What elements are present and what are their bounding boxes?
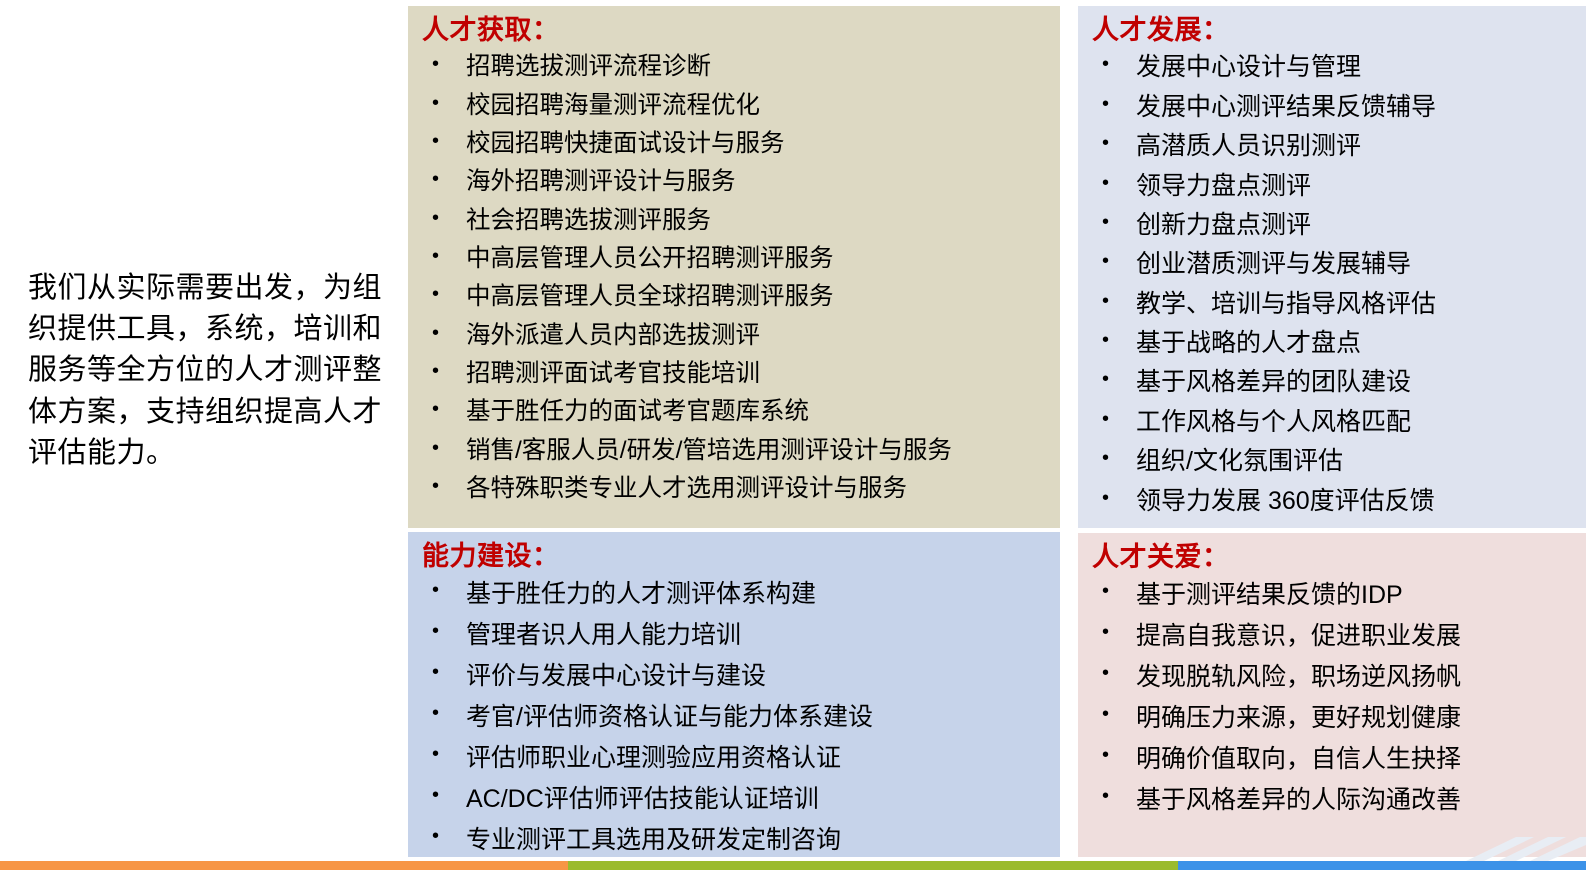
list-item-label: 评估师职业心理测验应用资格认证 [466,738,1050,779]
list-item: • 基于风格差异的团队建设 [1092,363,1576,402]
list-item-label: 创业潜质测评与发展辅导 [1136,245,1576,284]
list-item: • 教学、培训与指导风格评估 [1092,285,1576,324]
list-item-label: 社会招聘选拔测评服务 [466,202,1050,240]
list-item: • 基于战略的人才盘点 [1092,324,1576,363]
bullet-icon: • [422,48,466,80]
list-item: • 基于胜任力的人才测评体系构建 [422,574,1050,615]
bullet-icon: • [422,355,466,387]
list-item-label: 基于胜任力的面试考官题库系统 [466,393,1050,431]
bullet-icon: • [1092,167,1136,199]
intro-paragraph: 我们从实际需要出发，为组织提供工具，系统，培训和服务等全方位的人才测评整体方案，… [28,268,388,474]
bullet-icon: • [1092,88,1136,120]
list-item-label: 中高层管理人员全球招聘测评服务 [466,278,1050,316]
list-item: • 组织/文化氛围评估 [1092,442,1576,481]
list-item-label: 专业测评工具选用及研发定制咨询 [466,820,1050,857]
list-item: • 中高层管理人员全球招聘测评服务 [422,278,1050,316]
bullet-icon: • [1092,245,1136,277]
bullet-icon: • [1092,127,1136,159]
bullet-icon: • [422,615,466,647]
footer-color-strip [0,861,1586,870]
list-item-label: 发展中心设计与管理 [1136,48,1576,87]
list-item: • 招聘选拔测评流程诊断 [422,48,1050,86]
list-item: • 招聘测评面试考官技能培训 [422,355,1050,393]
item-list-talent-acquisition: • 招聘选拔测评流程诊断 • 校园招聘海量测评流程优化 • 校园招聘快捷面试设计… [422,48,1050,508]
list-item-label: 高潜质人员识别测评 [1136,127,1576,166]
list-item: • 基于胜任力的面试考官题库系统 [422,393,1050,431]
list-item: • 领导力发展 360度评估反馈 [1092,482,1576,521]
list-item-label: 明确压力来源，更好规划健康 [1136,698,1576,739]
bullet-icon: • [422,779,466,811]
list-item-label: 领导力盘点测评 [1136,167,1576,206]
bullet-icon: • [1092,324,1136,356]
list-item: • 海外派遣人员内部选拔测评 [422,317,1050,355]
bullet-icon: • [422,656,466,688]
list-item-label: 组织/文化氛围评估 [1136,442,1576,481]
bullet-icon: • [422,202,466,234]
list-item-label: 领导力发展 360度评估反馈 [1136,482,1576,521]
bullet-icon: • [422,317,466,349]
bullet-icon: • [1092,739,1136,771]
list-item-label: 发展中心测评结果反馈辅导 [1136,88,1576,127]
list-item: • 领导力盘点测评 [1092,167,1576,206]
bullet-icon: • [1092,657,1136,689]
bullet-icon: • [422,240,466,272]
list-item-label: 提高自我意识，促进职业发展 [1136,616,1576,657]
list-item-label: 基于风格差异的人际沟通改善 [1136,780,1576,821]
item-list-capability-building: • 基于胜任力的人才测评体系构建 • 管理者识人用人能力培训 • 评价与发展中心… [422,574,1050,857]
list-item: • 校园招聘快捷面试设计与服务 [422,125,1050,163]
list-item-label: 发现脱轨风险，职场逆风扬帆 [1136,657,1576,698]
bullet-icon: • [422,163,466,195]
list-item: • 专业测评工具选用及研发定制咨询 [422,820,1050,857]
bullet-icon: • [422,697,466,729]
list-item: • 销售/客服人员/研发/管培选用测评设计与服务 [422,432,1050,470]
list-item-label: 明确价值取向，自信人生抉择 [1136,739,1576,780]
bullet-icon: • [1092,206,1136,238]
list-item-label: AC/DC评估师评估技能认证培训 [466,779,1050,820]
list-item: • 管理者识人用人能力培训 [422,615,1050,656]
bullet-icon: • [1092,442,1136,474]
list-item-label: 销售/客服人员/研发/管培选用测评设计与服务 [466,432,1050,470]
list-item: • 考官/评估师资格认证与能力体系建设 [422,697,1050,738]
list-item-label: 基于胜任力的人才测评体系构建 [466,574,1050,615]
list-item: • 校园招聘海量测评流程优化 [422,87,1050,125]
footer-strip-blue [1178,861,1586,870]
panel-title-talent-development: 人才发展： [1092,14,1576,46]
panel-talent-care: 人才关爱： • 基于测评结果反馈的IDP • 提高自我意识，促进职业发展 • 发… [1078,533,1586,857]
bullet-icon: • [422,87,466,119]
bullet-icon: • [1092,482,1136,514]
item-list-talent-development: • 发展中心设计与管理 • 发展中心测评结果反馈辅导 • 高潜质人员识别测评 •… [1092,48,1576,521]
list-item: • 发展中心测评结果反馈辅导 [1092,88,1576,127]
list-item: • 明确价值取向，自信人生抉择 [1092,739,1576,780]
bullet-icon: • [1092,363,1136,395]
list-item: • 高潜质人员识别测评 [1092,127,1576,166]
panel-talent-development: 人才发展： • 发展中心设计与管理 • 发展中心测评结果反馈辅导 • 高潜质人员… [1078,6,1586,528]
bullet-icon: • [1092,698,1136,730]
panel-talent-acquisition: 人才获取： • 招聘选拔测评流程诊断 • 校园招聘海量测评流程优化 • 校园招聘… [408,6,1060,528]
bullet-icon: • [422,738,466,770]
slide-canvas: 我们从实际需要出发，为组织提供工具，系统，培训和服务等全方位的人才测评整体方案，… [0,0,1586,870]
list-item-label: 创新力盘点测评 [1136,206,1576,245]
list-item-label: 海外招聘测评设计与服务 [466,163,1050,201]
list-item: • 创新力盘点测评 [1092,206,1576,245]
bullet-icon: • [422,278,466,310]
list-item-label: 校园招聘海量测评流程优化 [466,87,1050,125]
list-item-label: 教学、培训与指导风格评估 [1136,285,1576,324]
list-item: • 各特殊职类专业人才选用测评设计与服务 [422,470,1050,508]
list-item: • AC/DC评估师评估技能认证培训 [422,779,1050,820]
bullet-icon: • [422,125,466,157]
bullet-icon: • [422,820,466,852]
list-item-label: 基于战略的人才盘点 [1136,324,1576,363]
bullet-icon: • [1092,575,1136,607]
list-item-label: 工作风格与个人风格匹配 [1136,403,1576,442]
panel-title-talent-acquisition: 人才获取： [422,14,1050,46]
list-item: • 基于测评结果反馈的IDP [1092,575,1576,616]
list-item-label: 考官/评估师资格认证与能力体系建设 [466,697,1050,738]
list-item-label: 校园招聘快捷面试设计与服务 [466,125,1050,163]
list-item-label: 各特殊职类专业人才选用测评设计与服务 [466,470,1050,508]
list-item: • 工作风格与个人风格匹配 [1092,403,1576,442]
list-item: • 评估师职业心理测验应用资格认证 [422,738,1050,779]
footer-strip-orange [0,861,568,870]
list-item: • 提高自我意识，促进职业发展 [1092,616,1576,657]
bullet-icon: • [1092,616,1136,648]
panel-capability-building: 能力建设： • 基于胜任力的人才测评体系构建 • 管理者识人用人能力培训 • 评… [408,532,1060,857]
list-item: • 明确压力来源，更好规划健康 [1092,698,1576,739]
list-item-label: 基于测评结果反馈的IDP [1136,575,1576,616]
bullet-icon: • [1092,48,1136,80]
bullet-icon: • [422,574,466,606]
list-item-label: 基于风格差异的团队建设 [1136,363,1576,402]
bullet-icon: • [422,470,466,502]
panel-title-talent-care: 人才关爱： [1092,541,1576,573]
list-item: • 中高层管理人员公开招聘测评服务 [422,240,1050,278]
list-item: • 创业潜质测评与发展辅导 [1092,245,1576,284]
list-item-label: 招聘测评面试考官技能培训 [466,355,1050,393]
bullet-icon: • [1092,403,1136,435]
item-list-talent-care: • 基于测评结果反馈的IDP • 提高自我意识，促进职业发展 • 发现脱轨风险，… [1092,575,1576,821]
bullet-icon: • [422,393,466,425]
list-item-label: 海外派遣人员内部选拔测评 [466,317,1050,355]
list-item: • 社会招聘选拔测评服务 [422,202,1050,240]
list-item-label: 招聘选拔测评流程诊断 [466,48,1050,86]
list-item: • 发现脱轨风险，职场逆风扬帆 [1092,657,1576,698]
bullet-icon: • [422,432,466,464]
footer-strip-green [568,861,1178,870]
bullet-icon: • [1092,285,1136,317]
list-item: • 基于风格差异的人际沟通改善 [1092,780,1576,821]
list-item: • 评价与发展中心设计与建设 [422,656,1050,697]
list-item: • 海外招聘测评设计与服务 [422,163,1050,201]
list-item-label: 评价与发展中心设计与建设 [466,656,1050,697]
bullet-icon: • [1092,780,1136,812]
list-item-label: 中高层管理人员公开招聘测评服务 [466,240,1050,278]
list-item-label: 管理者识人用人能力培训 [466,615,1050,656]
panel-title-capability-building: 能力建设： [422,540,1050,572]
list-item: • 发展中心设计与管理 [1092,48,1576,87]
